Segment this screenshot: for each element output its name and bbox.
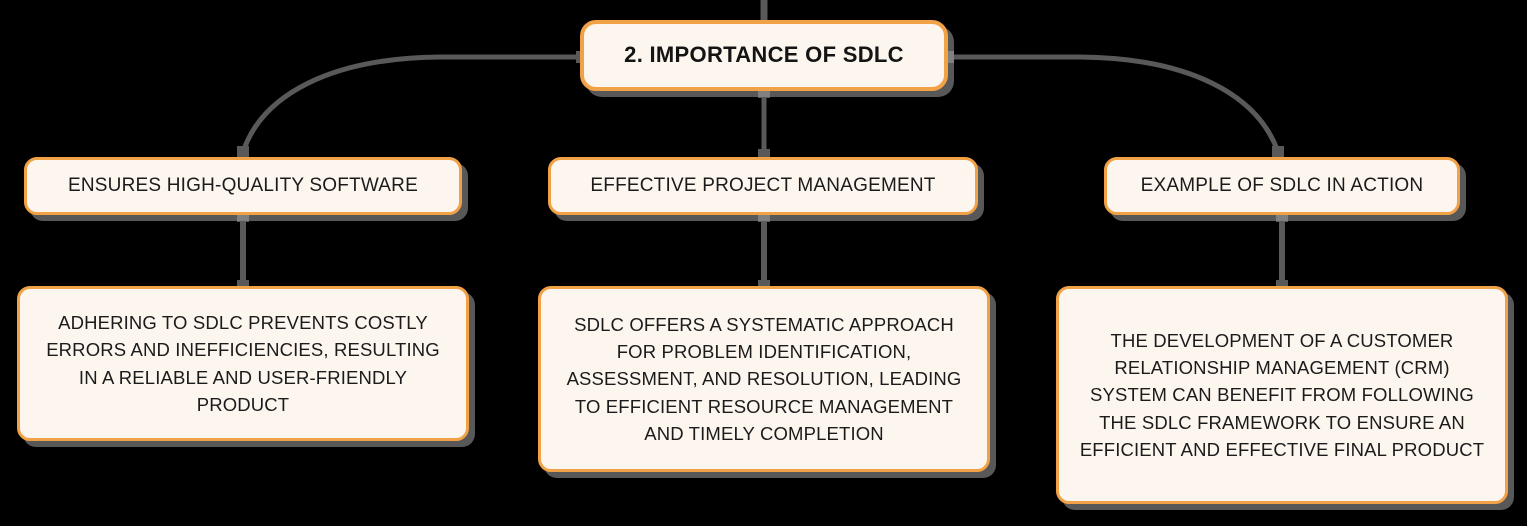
node-branch-1-heading[interactable]: ENSURES HIGH-QUALITY SOFTWARE: [24, 157, 462, 215]
node-title[interactable]: 2. IMPORTANCE OF SDLC: [580, 20, 948, 91]
node-branch-3-heading[interactable]: EXAMPLE OF SDLC IN ACTION: [1104, 157, 1460, 215]
node-branch-2-detail[interactable]: SDLC OFFERS A SYSTEMATIC APPROACH FOR PR…: [538, 286, 990, 472]
node-branch-1-detail-label: ADHERING TO SDLC PREVENTS COSTLY ERRORS …: [20, 309, 466, 419]
node-branch-1-heading-label: ENSURES HIGH-QUALITY SOFTWARE: [27, 175, 459, 197]
diagram-canvas: 2. IMPORTANCE OF SDLC ENSURES HIGH-QUALI…: [0, 0, 1527, 526]
node-title-label: 2. IMPORTANCE OF SDLC: [584, 43, 944, 67]
connector-title-to-branch-1: [243, 57, 580, 152]
node-branch-3-heading-label: EXAMPLE OF SDLC IN ACTION: [1107, 175, 1457, 197]
node-branch-1-detail[interactable]: ADHERING TO SDLC PREVENTS COSTLY ERRORS …: [17, 286, 469, 441]
node-branch-2-heading-label: EFFECTIVE PROJECT MANAGEMENT: [551, 175, 975, 197]
node-branch-3-detail[interactable]: THE DEVELOPMENT OF A CUSTOMER RELATIONSH…: [1056, 286, 1508, 504]
node-branch-2-heading[interactable]: EFFECTIVE PROJECT MANAGEMENT: [548, 157, 978, 215]
node-branch-3-detail-label: THE DEVELOPMENT OF A CUSTOMER RELATIONSH…: [1059, 327, 1505, 464]
connector-title-to-branch-3: [948, 57, 1278, 152]
node-branch-2-detail-label: SDLC OFFERS A SYSTEMATIC APPROACH FOR PR…: [541, 311, 987, 448]
